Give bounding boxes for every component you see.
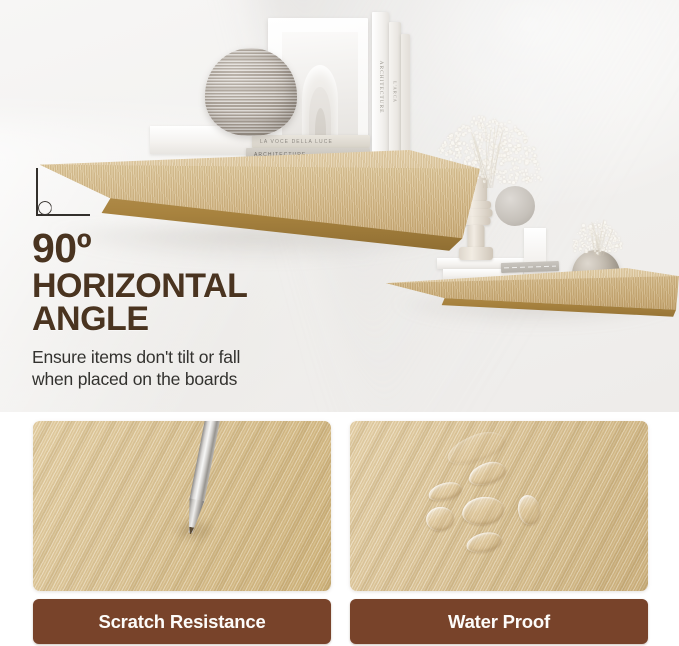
90-degree-angle-indicator	[36, 168, 92, 216]
book-stack-la-voce: LA VOCE DELLA LUCE	[252, 135, 370, 148]
ribbed-ceramic-vase	[205, 48, 297, 136]
subtext-line-2: when placed on the boards	[32, 368, 362, 390]
feature-cards-row: Scratch Resistance Water Proof	[0, 412, 679, 646]
product-feature-graphic: ARCHITECTURE L'ARCA LA VOCE DELLA LUCE A…	[0, 0, 679, 646]
feature-card-scratch-resistance[interactable]: Scratch Resistance	[33, 421, 331, 644]
book-spine-vertical-1: ARCHITECTURE	[372, 12, 389, 162]
subtext-line-1: Ensure items don't tilt or fall	[32, 346, 362, 368]
book-title-vertical-2: L'ARCA	[393, 81, 398, 103]
headline-line-horizontal: HORIZONTAL	[32, 270, 362, 303]
book-spine-vertical-2: L'ARCA	[389, 22, 401, 162]
headline-line-angle: ANGLE	[32, 303, 362, 336]
water-proof-label: Water Proof	[350, 599, 648, 644]
lower-shelf	[386, 268, 679, 326]
angle-arc-icon	[38, 201, 52, 215]
feature-card-water-proof[interactable]: Water Proof	[350, 421, 648, 644]
wood-grain-streaks	[33, 421, 331, 591]
headline-angle-value: 90º	[32, 228, 362, 268]
book-spine-vertical-3	[401, 34, 410, 162]
water-proof-label-text: Water Proof	[448, 611, 550, 633]
scratch-resistance-label-text: Scratch Resistance	[98, 611, 265, 633]
headline-subtext: Ensure items don't tilt or fall when pla…	[32, 346, 362, 391]
book-title-la-voce: LA VOCE DELLA LUCE	[260, 139, 333, 145]
scratch-resistance-label: Scratch Resistance	[33, 599, 331, 644]
angle-vertical-line	[36, 168, 38, 214]
water-proof-image	[350, 421, 648, 591]
angle-horizontal-line	[36, 214, 90, 216]
scratch-resistance-image	[33, 421, 331, 591]
decorative-grey-disc	[495, 186, 535, 226]
hero-shelf-photo: ARCHITECTURE L'ARCA LA VOCE DELLA LUCE A…	[0, 0, 679, 412]
book-title-vertical-1: ARCHITECTURE	[378, 61, 384, 114]
headline-block: 90º HORIZONTAL ANGLE Ensure items don't …	[32, 228, 362, 391]
